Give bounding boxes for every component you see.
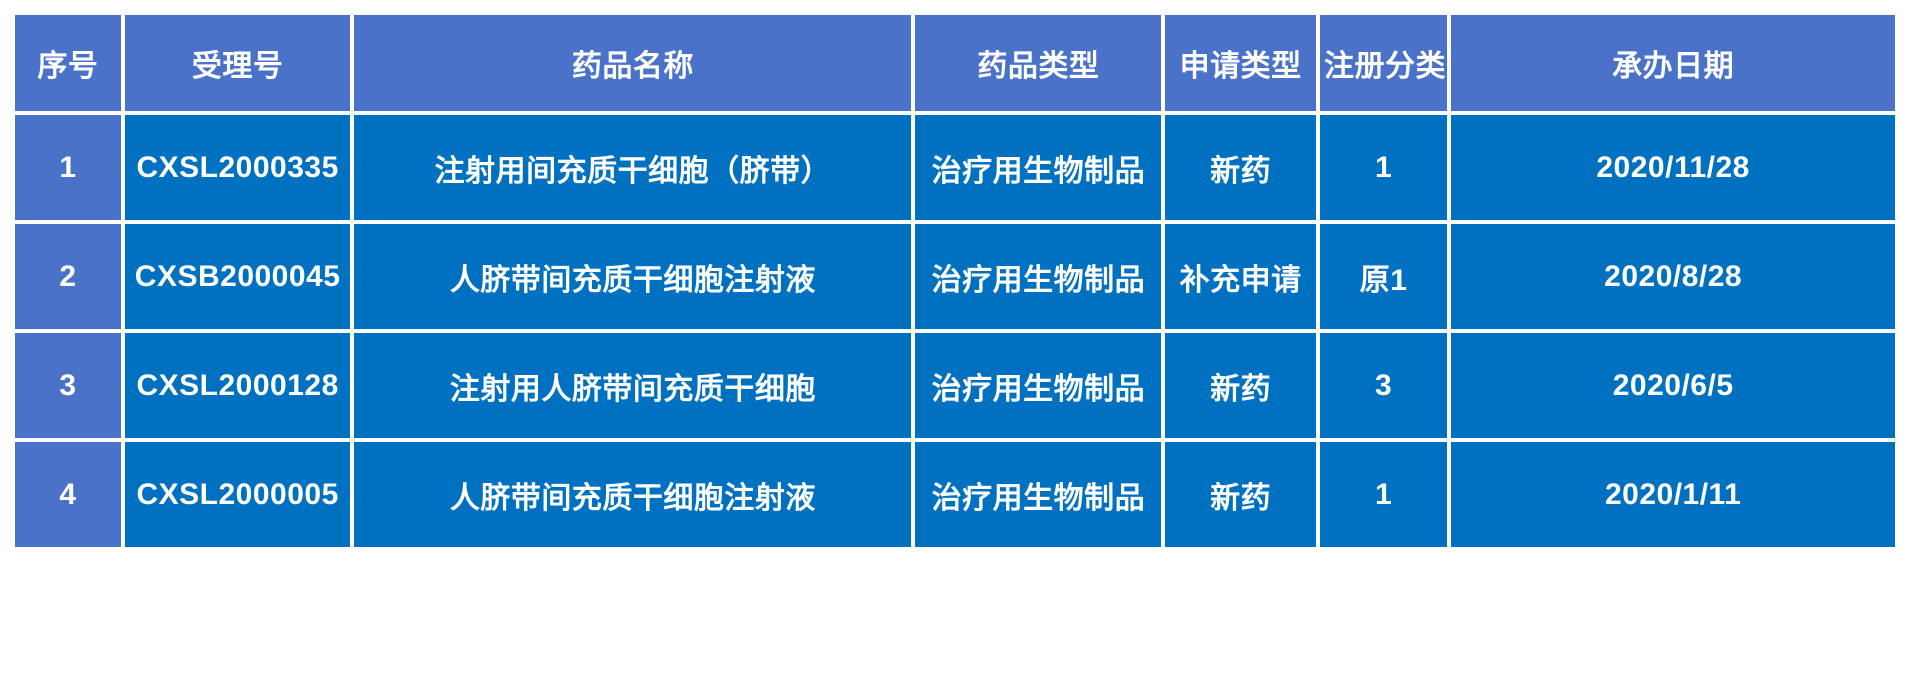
cell-drug-name: 注射用人脐带间充质干细胞 [354,333,911,438]
cell-drug-type: 治疗用生物制品 [915,115,1161,220]
cell-drug-type: 治疗用生物制品 [915,333,1161,438]
table-row: 1 CXSL2000335 注射用间充质干细胞（脐带） 治疗用生物制品 新药 1… [15,115,1895,220]
table-body: 1 CXSL2000335 注射用间充质干细胞（脐带） 治疗用生物制品 新药 1… [15,115,1895,547]
column-header-application-type: 申请类型 [1165,15,1316,111]
cell-registration-class: 原1 [1320,224,1447,329]
column-header-registration-class: 注册分类 [1320,15,1447,111]
cell-registration-class: 1 [1320,442,1447,547]
cell-drug-name: 注射用间充质干细胞（脐带） [354,115,911,220]
cell-application-type: 新药 [1165,333,1316,438]
cell-drug-type: 治疗用生物制品 [915,224,1161,329]
cell-index: 4 [15,442,121,547]
cell-application-type: 补充申请 [1165,224,1316,329]
cell-accept-no: CXSL2000128 [125,333,351,438]
table-row: 3 CXSL2000128 注射用人脐带间充质干细胞 治疗用生物制品 新药 3 … [15,333,1895,438]
cell-index: 1 [15,115,121,220]
drug-registration-table-container: 序号 受理号 药品名称 药品类型 申请类型 注册分类 承办日期 1 CXSL20… [15,15,1903,672]
table-header: 序号 受理号 药品名称 药品类型 申请类型 注册分类 承办日期 [15,15,1895,111]
table-row: 2 CXSB2000045 人脐带间充质干细胞注射液 治疗用生物制品 补充申请 … [15,224,1895,329]
column-header-handling-date: 承办日期 [1451,15,1895,111]
column-header-index: 序号 [15,15,121,111]
column-header-accept-no: 受理号 [125,15,351,111]
cell-index: 3 [15,333,121,438]
cell-registration-class: 3 [1320,333,1447,438]
cell-accept-no: CXSL2000335 [125,115,351,220]
cell-accept-no: CXSB2000045 [125,224,351,329]
column-header-drug-name: 药品名称 [354,15,911,111]
table-row: 4 CXSL2000005 人脐带间充质干细胞注射液 治疗用生物制品 新药 1 … [15,442,1895,547]
cell-application-type: 新药 [1165,442,1316,547]
cell-registration-class: 1 [1320,115,1447,220]
cell-handling-date: 2020/8/28 [1451,224,1895,329]
cell-drug-name: 人脐带间充质干细胞注射液 [354,224,911,329]
cell-application-type: 新药 [1165,115,1316,220]
cell-accept-no: CXSL2000005 [125,442,351,547]
cell-drug-name: 人脐带间充质干细胞注射液 [354,442,911,547]
cell-index: 2 [15,224,121,329]
cell-handling-date: 2020/6/5 [1451,333,1895,438]
table-header-row: 序号 受理号 药品名称 药品类型 申请类型 注册分类 承办日期 [15,15,1895,111]
column-header-drug-type: 药品类型 [915,15,1161,111]
cell-handling-date: 2020/11/28 [1451,115,1895,220]
cell-handling-date: 2020/1/11 [1451,442,1895,547]
cell-drug-type: 治疗用生物制品 [915,442,1161,547]
drug-registration-table: 序号 受理号 药品名称 药品类型 申请类型 注册分类 承办日期 1 CXSL20… [11,11,1899,551]
